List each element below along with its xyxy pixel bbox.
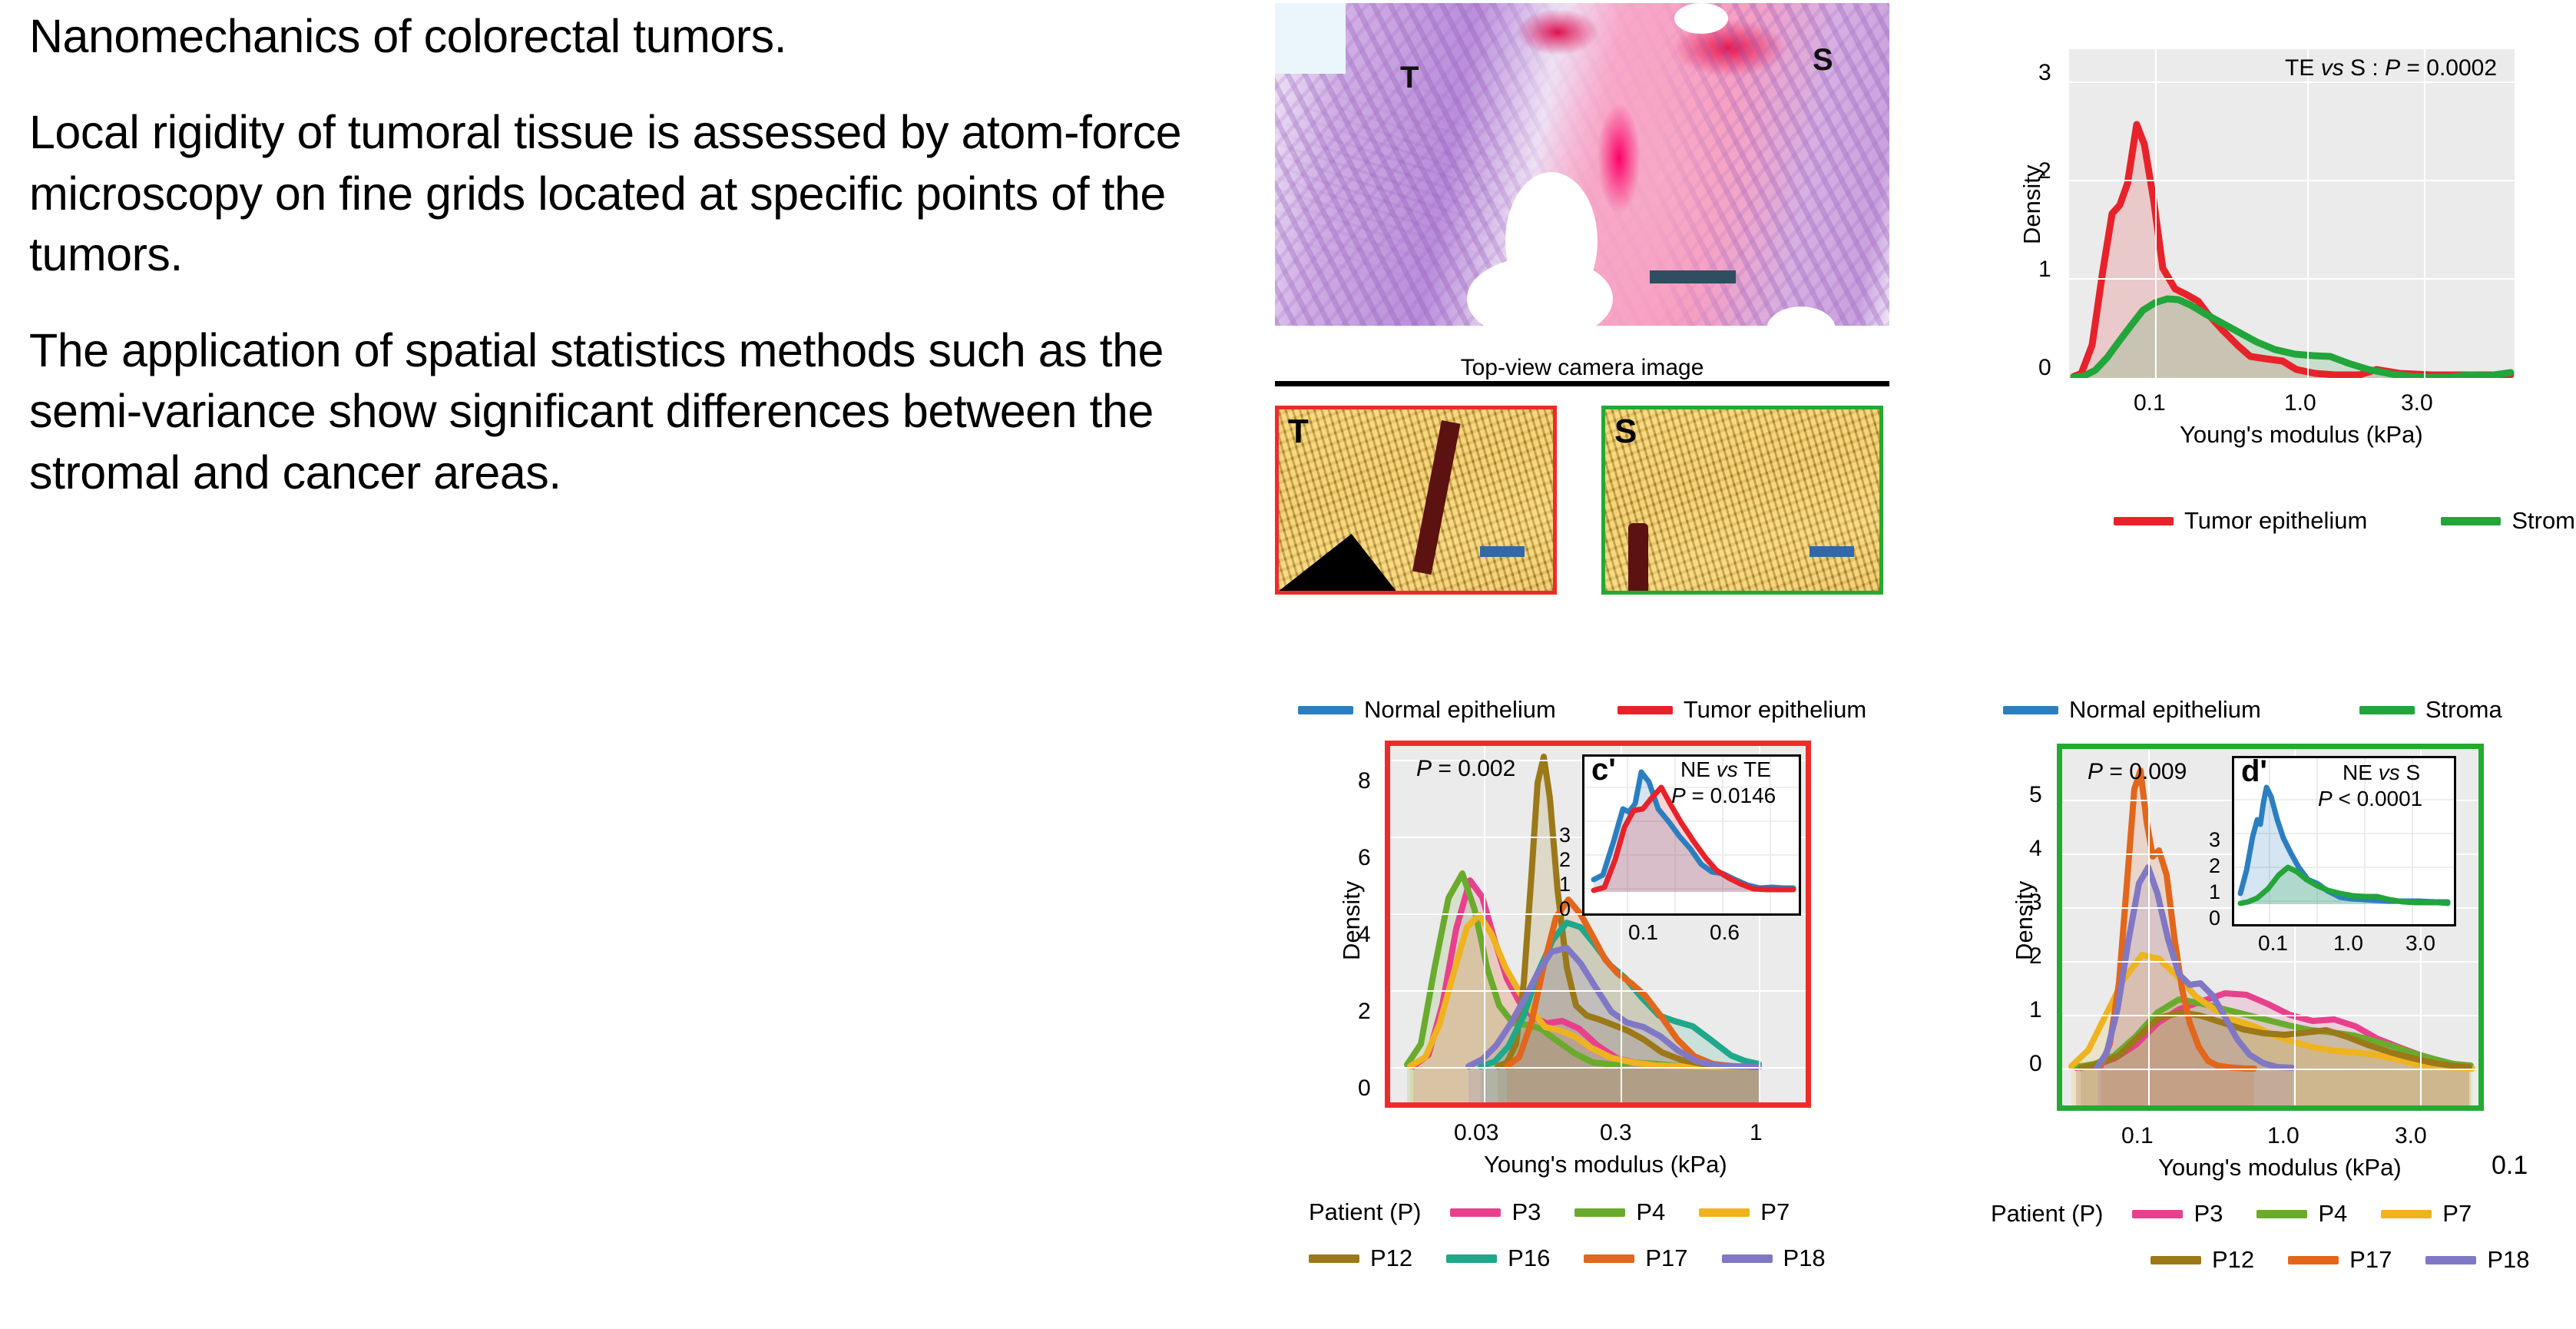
panel-b-xaxis-label: Young's modulus (kPa) [2180,421,2423,449]
panel-d-legend-item-stroma[interactable]: Stroma [2359,696,2502,724]
panel-b-gridline-x01 [2155,49,2157,378]
stray-axis-label: 0.1 [2492,1151,2528,1181]
panel-c-swatch-p18 [1722,1254,1773,1263]
panel-d-gridline-x01 [2148,749,2150,1105]
panel-d-swatch-p7 [2381,1210,2432,1218]
panel-d-xtick-2: 3.0 [2395,1123,2427,1149]
inset-d-prime-xtick-2: 3.0 [2405,931,2435,956]
narrative-text-block: Nanomechanics of colorectal tumors. Loca… [29,6,1227,503]
panel-d-legend-title: Patient (P) [1991,1200,2103,1228]
narrative-paragraph-2: Local rigidity of tumoral tissue is asse… [29,102,1227,285]
panel-c-gridline-y2 [1390,990,1806,992]
inset-d-prime-annotation-line2: P < 0.0001 [2318,787,2422,811]
panel-c-legend-item-tumor-epithelium[interactable]: Tumor epithelium [1617,696,1866,724]
panel-d-legend-swatch-stroma [2359,706,2415,714]
panel-b-xtick-1: 1.0 [2284,390,2316,416]
panel-c-legend-label-p16: P16 [1508,1244,1550,1272]
panel-d-legend-item-p17[interactable]: P17 [2288,1246,2392,1274]
inset-d-prime-ytick-2: 2 [2209,854,2220,878]
panel-c-legend-label-tumor: Tumor epithelium [1684,696,1866,724]
panel-c-legend-item-p18[interactable]: P18 [1722,1244,1826,1272]
histology-label-stroma: S [1813,43,1833,78]
panel-c-swatch-p16 [1446,1254,1497,1263]
inset-c-prime-label: c' [1591,753,1616,787]
panel-d-annotation: P = 0.009 [2088,759,2187,785]
afm-cantilever-tip-stroma [1628,523,1648,594]
panel-c-legend-label-p18: P18 [1783,1244,1826,1272]
panel-d-top-legend: Normal epithelium Stroma [2003,696,2536,724]
panel-d-legend-item-p12[interactable]: P12 [2151,1246,2254,1274]
panel-c-legend-label-p17: P17 [1645,1244,1687,1272]
panel-c-swatch-p3 [1450,1208,1501,1217]
panel-d-xtick-0: 0.1 [2121,1123,2154,1149]
inset-c-prime-ytick-0: 0 [1559,897,1571,921]
panel-c-legend-label-p7: P7 [1760,1198,1790,1226]
panel-d-ytick-1: 1 [2029,997,2042,1023]
inset-d-prime-ytick-1: 1 [2209,880,2220,904]
panel-c-legend-swatch-normal [1298,706,1353,714]
panel-c-legend-item-p4[interactable]: P4 [1574,1198,1665,1226]
panel-c-legend-item-normal-epithelium[interactable]: Normal epithelium [1298,696,1556,724]
inset-d-prime-ytick-0: 0 [2209,906,2220,930]
panel-c-xtick-1: 0.3 [1600,1120,1632,1146]
panel-b-legend-item-stroma[interactable]: Stroma [2441,507,2576,535]
panel-d-legend-label-p3: P3 [2194,1200,2223,1228]
panel-d-legend-label-normal: Normal epithelium [2069,696,2261,724]
panel-c-patient-legend-row1: Patient (P) P3 P4 P7 [1309,1198,1823,1226]
panel-b-gridline-x10 [2307,49,2309,378]
afm-label-stroma: S [1614,413,1637,451]
panel-b-legend-swatch-stroma [2441,517,2501,525]
panel-c-legend-label-p4: P4 [1636,1198,1665,1226]
inset-c-prime-xtick-1: 0.6 [1710,920,1740,945]
afm-scale-bar-stroma [1809,546,1854,557]
panel-c-xtick-2: 1 [1750,1120,1763,1146]
panel-b-annotation: TE vs S : P = 0.0002 [2285,55,2497,81]
panel-d-patient-legend-row1: Patient (P) P3 P4 P7 [1991,1200,2505,1228]
afm-camera-image-tumor: T [1275,406,1557,595]
panel-b-gridline-y0 [2069,378,2515,379]
histology-label-tumor: T [1400,61,1419,95]
inset-c-prime-ytick-2: 2 [1559,848,1571,872]
panel-d-swatch-p18 [2425,1256,2476,1264]
histology-caption: Top-view camera image [1275,355,1889,381]
histology-corner-blank [1275,3,1346,74]
panel-b-ytick-3: 3 [2038,60,2051,86]
inset-c-prime-ytick-3: 3 [1559,824,1571,847]
panel-d-yaxis-label: Density [2011,881,2038,960]
panel-d-legend-item-p3[interactable]: P3 [2132,1200,2223,1228]
panel-d-swatch-p3 [2132,1210,2183,1218]
panel-b-curves [2069,49,2515,378]
narrative-paragraph-1: Nanomechanics of colorectal tumors. [29,6,1227,67]
panel-c-legend-title: Patient (P) [1309,1198,1421,1226]
panel-d-gridline-y1 [2062,1015,2478,1016]
panel-c-legend-item-p7[interactable]: P7 [1699,1198,1790,1226]
panel-b-gridline-y1 [2069,278,2515,280]
histology-section-image: T S [1275,3,1889,326]
panel-d-legend-label-p17: P17 [2349,1246,2392,1274]
panel-c-xaxis-label: Young's modulus (kPa) [1484,1151,1727,1178]
panel-d-ytick-5: 5 [2029,782,2042,808]
panel-d-ytick-0: 0 [2029,1051,2042,1077]
inset-d-prime-xtick-1: 1.0 [2333,931,2363,956]
inset-d-prime-label: d' [2241,754,2267,789]
panel-b-gridline-y2 [2069,180,2515,181]
panel-d-legend-label-p4: P4 [2318,1200,2347,1228]
panel-b-xtick-2: 3.0 [2401,390,2433,416]
panel-c-gridline-y0 [1390,1067,1806,1069]
panel-c-yaxis-label: Density [1338,881,1366,960]
panel-b-legend-item-tumor-epithelium[interactable]: Tumor epithelium [2114,507,2367,535]
panel-c-legend-item-p17[interactable]: P17 [1584,1244,1687,1272]
panel-b-ytick-0: 0 [2038,355,2051,381]
panel-b-plot-area [2069,49,2515,378]
afm-shadow-wedge [1275,534,1406,595]
panel-b-ytick-1: 1 [2038,257,2051,283]
afm-label-tumor: T [1288,413,1309,451]
panel-c-ytick-6: 6 [1358,845,1371,871]
caption-divider-rule [1275,381,1889,386]
panel-d-swatch-p4 [2256,1210,2307,1218]
inset-c-prime-annotation-line1: NE vs TE [1680,757,1771,782]
panel-c-top-legend: Normal epithelium Tumor epithelium [1298,696,1900,724]
panel-c-gridline-x003 [1484,746,1485,1102]
inset-c-prime-annotation-line2: P = 0.0146 [1671,784,1776,808]
panel-d-legend-label-stroma: Stroma [2425,696,2502,724]
panel-d-swatch-p12 [2151,1256,2201,1264]
afm-scale-bar-tumor [1480,546,1525,557]
inset-d-prime-ytick-3: 3 [2209,828,2220,852]
panel-d-legend-label-p18: P18 [2487,1246,2529,1274]
panel-c-legend-item-p16[interactable]: P16 [1446,1244,1550,1272]
panel-d-ytick-4: 4 [2029,836,2042,862]
panel-d-legend-label-p12: P12 [2212,1246,2254,1274]
panel-d-xtick-1: 1.0 [2267,1123,2300,1149]
panel-c-swatch-p17 [1584,1254,1634,1263]
afm-camera-image-stroma: S [1601,406,1883,595]
panel-d-legend-item-normal-epithelium[interactable]: Normal epithelium [2003,696,2261,724]
panel-c-swatch-p7 [1699,1208,1750,1217]
panel-d-xaxis-label: Young's modulus (kPa) [2158,1154,2402,1182]
histology-scale-bar [1650,270,1736,283]
panel-b-gridline-x30 [2424,49,2425,378]
panel-b-legend: Tumor epithelium Stroma [2114,507,2576,535]
panel-d-legend-swatch-normal [2003,706,2058,714]
panel-c-swatch-p12 [1309,1254,1359,1263]
panel-d-gridline-y0 [2062,1069,2478,1070]
panel-d-legend-item-p18[interactable]: P18 [2425,1246,2529,1274]
panel-c-legend-item-p3[interactable]: P3 [1450,1198,1541,1226]
panel-c-patient-legend-row2: P12 P16 P17 P18 [1309,1244,1859,1272]
panel-d-legend-item-p4[interactable]: P4 [2256,1200,2347,1228]
panel-c-xtick-0: 0.03 [1454,1120,1498,1146]
panel-c-legend-item-p12[interactable]: P12 [1309,1244,1412,1272]
panel-c-legend-label-p3: P3 [1511,1198,1541,1226]
inset-d-prime-annotation-line1: NE vs S [2343,761,2420,785]
panel-b-legend-label-tumor: Tumor epithelium [2184,507,2367,535]
panel-c-legend-label-p12: P12 [1370,1244,1412,1272]
panel-b-yaxis-label: Density [2018,165,2046,244]
afm-cantilever-tip-tumor [1412,420,1461,575]
panel-b-gridline-y3 [2069,81,2515,83]
narrative-paragraph-3: The application of spatial statistics me… [29,320,1227,503]
panel-b-legend-swatch-tumor [2114,517,2174,525]
panel-d-patient-legend-row2: P12 P17 P18 [2151,1246,2564,1274]
inset-d-prime-xtick-0: 0.1 [2258,931,2288,956]
panel-d-legend-item-p7[interactable]: P7 [2381,1200,2472,1228]
panel-c-legend-label-normal: Normal epithelium [1364,696,1556,724]
histology-void-4 [1674,3,1728,34]
panel-d-gridline-y2 [2062,961,2478,963]
panel-c-swatch-p4 [1574,1208,1625,1217]
panel-d-swatch-p17 [2288,1256,2339,1264]
panel-b-xtick-0: 0.1 [2134,390,2166,416]
panel-c-ytick-2: 2 [1358,999,1371,1025]
panel-c-annotation: P = 0.002 [1416,756,1515,782]
panel-c-ytick-0: 0 [1358,1075,1371,1102]
panel-d-legend-label-p7: P7 [2442,1200,2472,1228]
inset-c-prime-ytick-1: 1 [1559,873,1571,896]
panel-c-ytick-8: 8 [1358,768,1371,794]
panel-b-legend-label-stroma: Stroma [2511,507,2576,535]
panel-c-legend-swatch-tumor [1617,706,1673,714]
inset-c-prime-xtick-0: 0.1 [1628,920,1658,945]
